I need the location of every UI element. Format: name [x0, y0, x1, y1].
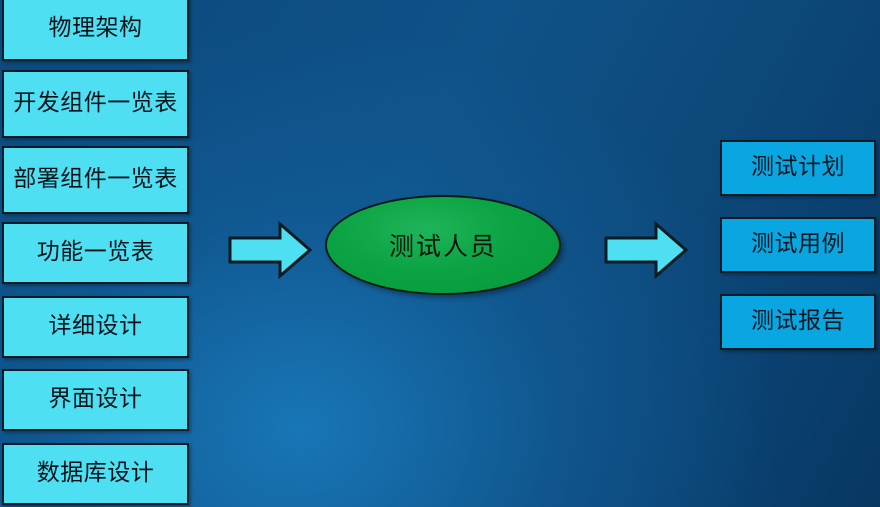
input-document-label: 数据库设计: [37, 461, 155, 487]
output-document-label: 测试报告: [751, 309, 845, 335]
arrow-right-icon: [228, 221, 312, 279]
arrow-right-icon: [604, 221, 688, 279]
input-document-label: 功能一览表: [37, 240, 155, 266]
input-document-box-3[interactable]: 部署组件一览表: [2, 146, 189, 214]
output-document-label: 测试计划: [751, 155, 845, 181]
diagram-canvas: 物理架构 开发组件一览表 部署组件一览表 功能一览表 详细设计 界面设计 数据库…: [0, 0, 880, 507]
output-document-box-1[interactable]: 测试计划: [720, 140, 876, 196]
input-document-label: 部署组件一览表: [13, 167, 178, 193]
input-document-label: 界面设计: [49, 387, 143, 413]
arrow-input-to-role: [228, 221, 312, 279]
input-document-label: 物理架构: [49, 16, 143, 42]
output-document-label: 测试用例: [751, 232, 845, 258]
output-document-box-3[interactable]: 测试报告: [720, 294, 876, 350]
input-document-label: 开发组件一览表: [13, 91, 178, 117]
role-label: 测试人员: [389, 227, 497, 263]
input-document-box-7[interactable]: 数据库设计: [2, 443, 189, 505]
arrow-role-to-output: [604, 221, 688, 279]
input-document-box-6[interactable]: 界面设计: [2, 369, 189, 431]
input-document-box-5[interactable]: 详细设计: [2, 296, 189, 358]
input-document-box-1[interactable]: 物理架构: [2, 0, 189, 61]
role-ellipse-tester[interactable]: 测试人员: [325, 195, 561, 295]
input-document-box-2[interactable]: 开发组件一览表: [2, 70, 189, 138]
input-document-box-4[interactable]: 功能一览表: [2, 222, 189, 284]
input-document-label: 详细设计: [49, 314, 143, 340]
output-document-box-2[interactable]: 测试用例: [720, 217, 876, 273]
